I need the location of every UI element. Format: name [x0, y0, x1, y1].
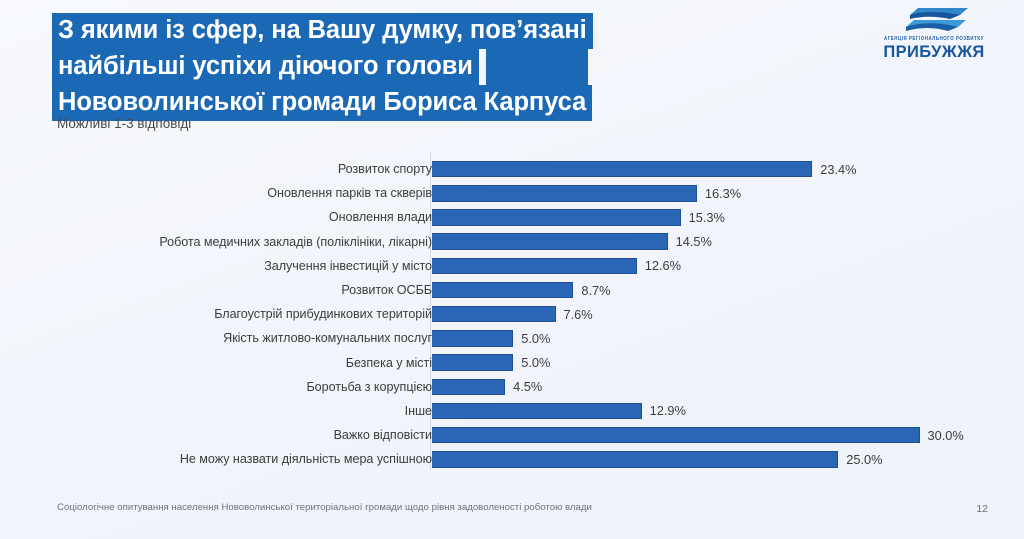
bar-category-label: Залучення інвестицій у місто — [52, 259, 432, 273]
bar-row: Залучення інвестицій у місто12.6% — [0, 254, 1024, 278]
bar-area: 23.4% — [432, 157, 857, 181]
bar-value-label: 7.6% — [564, 307, 593, 322]
bar-value-label: 12.9% — [650, 403, 686, 418]
bar-area: 8.7% — [432, 278, 611, 302]
bar-category-label: Робота медичних закладів (поліклініки, л… — [52, 235, 432, 249]
bar-value-label: 5.0% — [521, 331, 550, 346]
bar-area: 4.5% — [432, 375, 542, 399]
bar — [432, 282, 573, 299]
bar-value-label: 14.5% — [676, 234, 712, 249]
bar-area: 25.0% — [432, 447, 883, 471]
bar-area: 16.3% — [432, 181, 741, 205]
bar-category-label: Не можу назвати діяльність мера успішною — [52, 452, 432, 466]
bar — [432, 451, 838, 468]
bar-value-label: 12.6% — [645, 258, 681, 273]
bar-value-label: 4.5% — [513, 379, 542, 394]
bar-row: Безпека у місті5.0% — [0, 351, 1024, 375]
bar-area: 15.3% — [432, 205, 725, 229]
bar-category-label: Безпека у місті — [52, 356, 432, 370]
logo-tagline: АГЕНЦІЯ РЕГІОНАЛЬНОГО РОЗВИТКУ — [866, 36, 1002, 42]
slide: АГЕНЦІЯ РЕГІОНАЛЬНОГО РОЗВИТКУ ПРИБУЖЖЯ … — [0, 0, 1024, 539]
title-line-2-row: найбільші успіхи діючого голови — [52, 49, 752, 85]
bar-area: 12.9% — [432, 399, 686, 423]
bar — [432, 209, 681, 226]
bar — [432, 258, 637, 275]
bar-area: 12.6% — [432, 254, 681, 278]
bar-category-label: Якість житлово-комунальних послуг — [52, 331, 432, 345]
brand-logo: АГЕНЦІЯ РЕГІОНАЛЬНОГО РОЗВИТКУ ПРИБУЖЖЯ — [866, 6, 1002, 61]
bar — [432, 306, 556, 323]
title-line-2: найбільші успіхи діючого голови — [52, 49, 479, 85]
bar-value-label: 25.0% — [846, 452, 882, 467]
bar — [432, 403, 642, 420]
bar-row: Якість житлово-комунальних послуг5.0% — [0, 326, 1024, 350]
bar — [432, 427, 920, 444]
bar — [432, 161, 812, 178]
bar-row: Розвиток ОСББ8.7% — [0, 278, 1024, 302]
bar-rows: Розвиток спорту23.4%Оновлення парків та … — [0, 157, 1024, 471]
bar-value-label: 16.3% — [705, 186, 741, 201]
bar-row: Оновлення влади15.3% — [0, 205, 1024, 229]
bar-area: 30.0% — [432, 423, 964, 447]
bar — [432, 354, 513, 371]
bar-row: Оновлення парків та скверів16.3% — [0, 181, 1024, 205]
bar-row: Благоустрій прибудинкових територій7.6% — [0, 302, 1024, 326]
logo-name: ПРИБУЖЖЯ — [866, 44, 1002, 61]
bar-area: 7.6% — [432, 302, 593, 326]
title-line-1: З якими із сфер, на Вашу думку, пов’язан… — [52, 13, 593, 49]
chart-subtitle: Можливі 1-3 відповіді — [57, 116, 191, 131]
title-highlight-tail — [486, 49, 588, 85]
bar-row: Не можу назвати діяльність мера успішною… — [0, 447, 1024, 471]
bar-value-label: 23.4% — [820, 162, 856, 177]
bar — [432, 185, 697, 202]
bar-row: Робота медичних закладів (поліклініки, л… — [0, 230, 1024, 254]
bar-category-label: Благоустрій прибудинкових територій — [52, 307, 432, 321]
bar-category-label: Боротьба з корупцією — [52, 380, 432, 394]
page-number: 12 — [976, 503, 988, 515]
bar-value-label: 30.0% — [928, 428, 964, 443]
bar-area: 14.5% — [432, 230, 712, 254]
bar-value-label: 8.7% — [581, 283, 610, 298]
page-title: З якими із сфер, на Вашу думку, пов’язан… — [52, 13, 752, 121]
bar-category-label: Оновлення парків та скверів — [52, 186, 432, 200]
bar-category-label: Розвиток ОСББ — [52, 283, 432, 297]
wave-swoosh-logo-icon — [888, 6, 980, 36]
bar-area: 5.0% — [432, 326, 550, 350]
bar-area: 5.0% — [432, 351, 550, 375]
bar-category-label: Оновлення влади — [52, 210, 432, 224]
bar-category-label: Інше — [52, 404, 432, 418]
bar-row: Боротьба з корупцією4.5% — [0, 375, 1024, 399]
bar — [432, 330, 513, 347]
bar-category-label: Розвиток спорту — [52, 162, 432, 176]
bar-chart: Розвиток спорту23.4%Оновлення парків та … — [0, 152, 1024, 474]
bar-row: Важко відповісти30.0% — [0, 423, 1024, 447]
bar — [432, 379, 505, 396]
bar-row: Розвиток спорту23.4% — [0, 157, 1024, 181]
bar-value-label: 15.3% — [689, 210, 725, 225]
bar — [432, 233, 668, 250]
bar-row: Інше12.9% — [0, 399, 1024, 423]
bar-value-label: 5.0% — [521, 355, 550, 370]
footer-note: Соціологічне опитування населення Новово… — [57, 502, 592, 513]
bar-category-label: Важко відповісти — [52, 428, 432, 442]
